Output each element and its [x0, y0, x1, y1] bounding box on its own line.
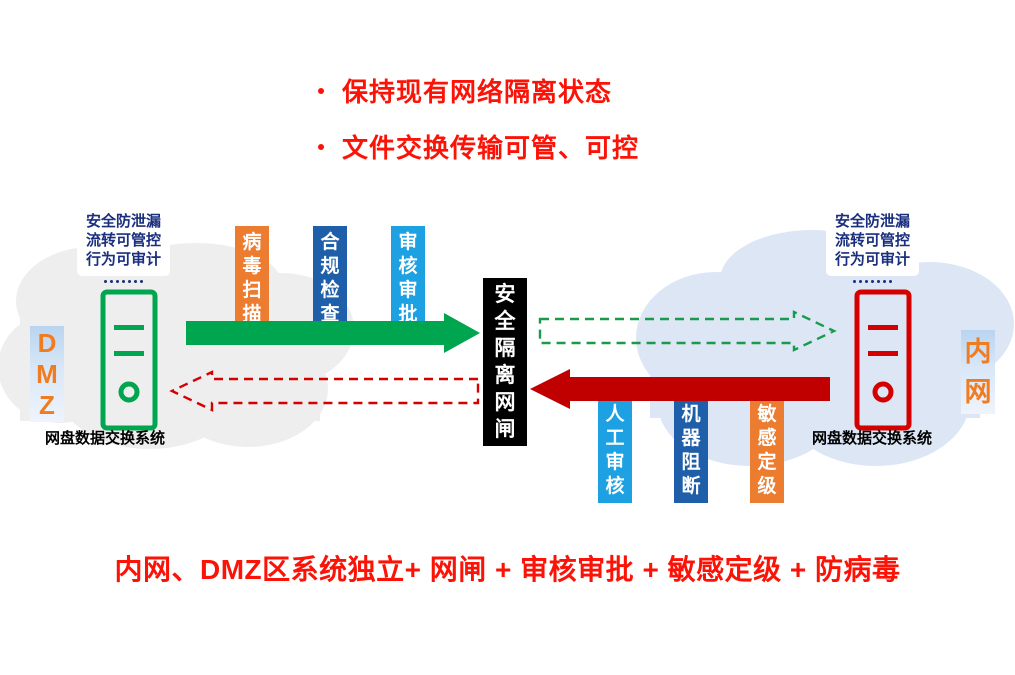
control-pill-machine-block-char-2: 器 — [681, 427, 700, 451]
dmz-callout-box: 安全防泄漏 流转可管控 行为可审计 — [77, 206, 170, 276]
intranet-server-icon — [854, 289, 912, 436]
zone-tag-dmz: D M Z — [30, 326, 64, 422]
diagram-canvas: 保持现有网络隔离状态 文件交换传输可管、可控 — [0, 0, 1015, 675]
dmz-callout-line-3: 行为可审计 — [86, 250, 161, 269]
dmz-server-icon — [100, 289, 158, 436]
intranet-callout-line-2: 流转可管控 — [835, 231, 910, 250]
arrow-gateway-to-intranet — [540, 312, 836, 350]
header-bullet-1-text: 保持现有网络隔离状态 — [342, 72, 612, 109]
security-gateway-char-2: 全 — [495, 308, 516, 335]
header-bullet-list: 保持现有网络隔离状态 文件交换传输可管、可控 — [318, 72, 878, 184]
intranet-callout: 安全防泄漏 流转可管控 行为可审计 — [826, 206, 919, 283]
control-pill-virus-scan-char-2: 毒 — [242, 255, 261, 279]
intranet-callout-line-3: 行为可审计 — [835, 250, 910, 269]
security-gateway-char-6: 闸 — [495, 416, 516, 443]
security-gateway-char-5: 网 — [495, 389, 516, 416]
footer-summary: 内网、DMZ区系统独立+ 网闸 + 审核审批 + 敏感定级 + 防病毒 — [0, 548, 1015, 588]
arrow-gateway-to-dmz — [170, 372, 478, 410]
control-pill-manual-review-char-4: 核 — [605, 475, 624, 499]
zone-tag-dmz-char-3: Z — [39, 390, 55, 421]
zone-tag-intranet-char-2: 网 — [965, 372, 992, 412]
security-gateway: 安 全 隔 离 网 闸 — [483, 278, 527, 446]
security-gateway-char-1: 安 — [495, 281, 516, 308]
bullet-dot-icon — [318, 88, 324, 94]
arrow-dmz-to-gateway — [186, 313, 480, 353]
control-pill-machine-block-char-3: 阻 — [681, 451, 700, 475]
control-pill-machine-block-char-4: 断 — [681, 475, 700, 499]
header-bullet-2: 文件交换传输可管、可控 — [318, 128, 878, 165]
control-pill-review-approval-char-3: 审 — [398, 279, 417, 303]
control-pill-sensitivity-rating-char-4: 级 — [757, 475, 776, 499]
zone-tag-dmz-char-1: D — [38, 328, 57, 359]
control-pill-review-approval-char-1: 审 — [398, 231, 417, 255]
control-pill-manual-review-char-2: 工 — [605, 427, 624, 451]
control-pill-sensitivity-rating: 敏 感 定 级 — [750, 398, 784, 503]
dmz-node-caption: 网盘数据交换系统 — [45, 427, 165, 448]
arrow-intranet-to-gateway — [530, 369, 830, 409]
control-pill-compliance-check-char-3: 检 — [320, 279, 339, 303]
control-pill-compliance-check-char-2: 规 — [320, 255, 339, 279]
control-pill-manual-review: 人 工 审 核 — [598, 398, 632, 503]
control-pill-machine-block: 机 器 阻 断 — [674, 398, 708, 503]
control-pill-virus-scan-char-3: 扫 — [242, 279, 261, 303]
intranet-callout-line-1: 安全防泄漏 — [835, 212, 910, 231]
zone-tag-intranet-char-1: 内 — [965, 332, 992, 372]
control-pill-sensitivity-rating-char-3: 定 — [757, 451, 776, 475]
intranet-node-caption: 网盘数据交换系统 — [812, 427, 932, 448]
header-bullet-2-text: 文件交换传输可管、可控 — [342, 128, 639, 165]
dmz-callout: 安全防泄漏 流转可管控 行为可审计 — [77, 206, 170, 283]
dmz-callout-connector-dots — [77, 280, 170, 283]
control-pill-sensitivity-rating-char-2: 感 — [757, 427, 776, 451]
dmz-callout-line-2: 流转可管控 — [86, 231, 161, 250]
security-gateway-char-3: 隔 — [495, 335, 516, 362]
control-pill-manual-review-char-3: 审 — [605, 451, 624, 475]
security-gateway-char-4: 离 — [495, 362, 516, 389]
zone-tag-dmz-char-2: M — [36, 359, 58, 390]
control-pill-review-approval-char-2: 核 — [398, 255, 417, 279]
control-pill-compliance-check-char-1: 合 — [320, 231, 339, 255]
intranet-callout-connector-dots — [826, 280, 919, 283]
intranet-callout-box: 安全防泄漏 流转可管控 行为可审计 — [826, 206, 919, 276]
control-pill-virus-scan-char-1: 病 — [242, 231, 261, 255]
bullet-dot-icon — [318, 144, 324, 150]
zone-tag-intranet: 内 网 — [961, 330, 995, 414]
header-bullet-1: 保持现有网络隔离状态 — [318, 72, 878, 109]
dmz-callout-line-1: 安全防泄漏 — [86, 212, 161, 231]
